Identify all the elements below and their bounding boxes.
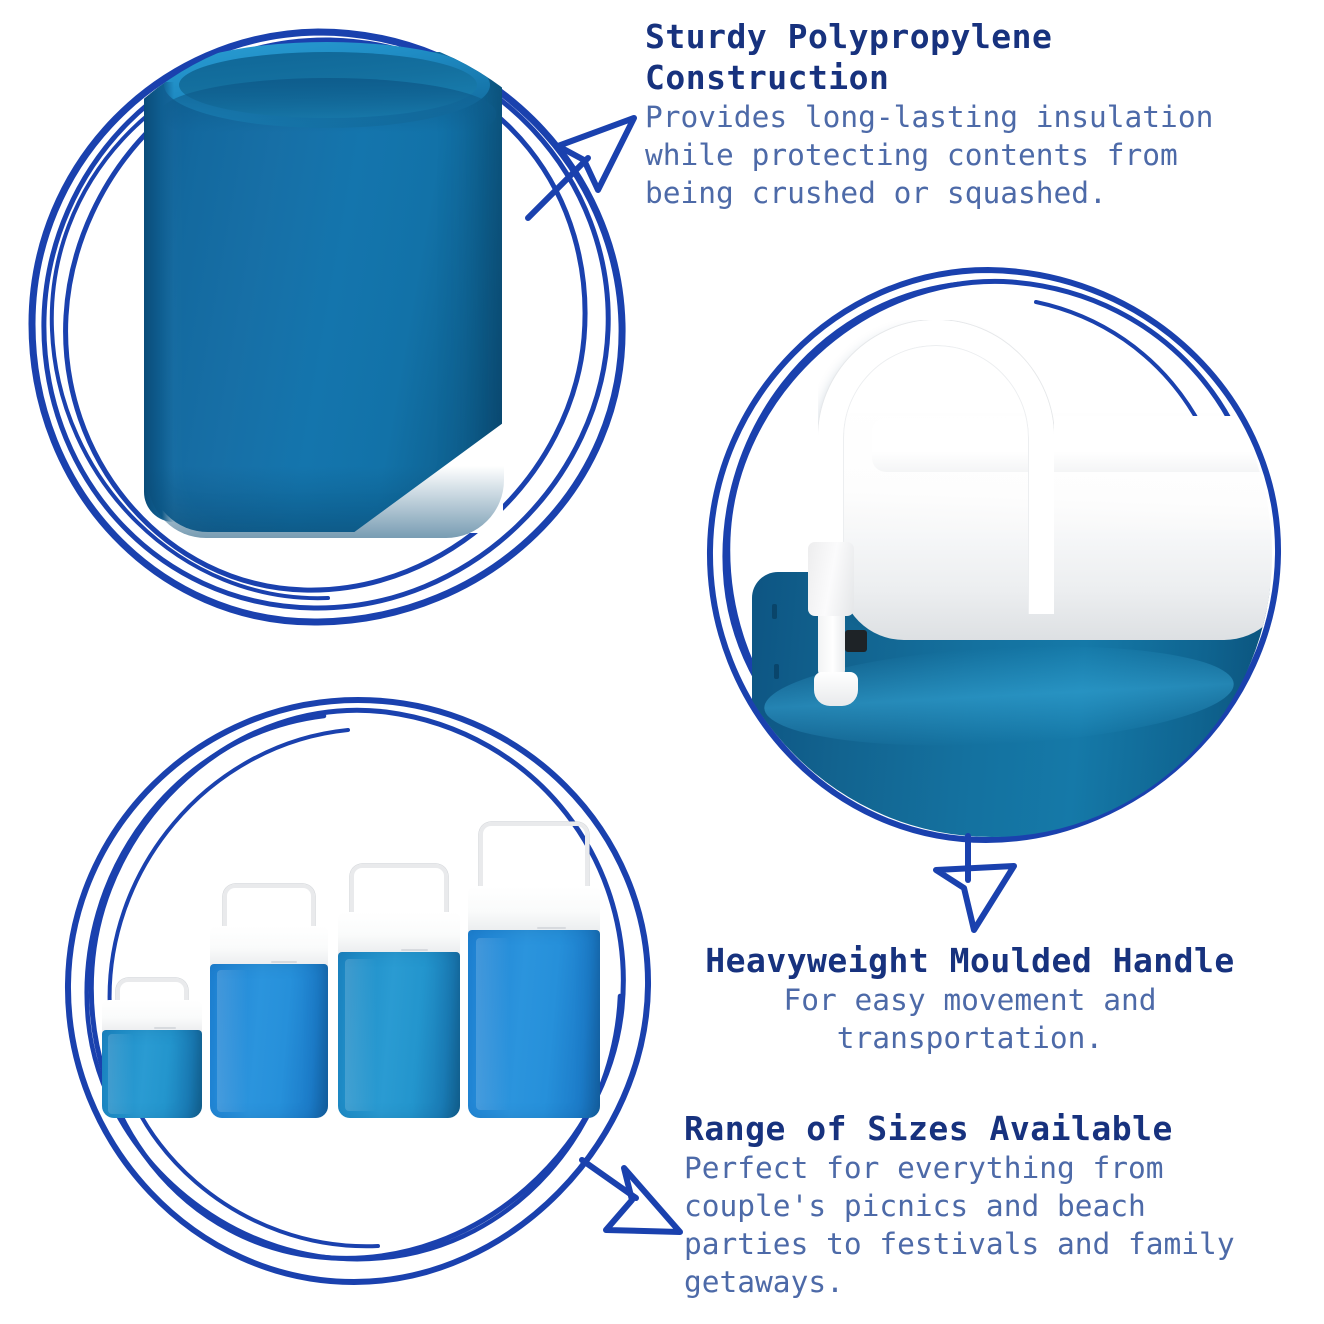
cooler-handle-closeup-image xyxy=(712,272,1272,837)
cooler-lid xyxy=(338,912,460,956)
cooler-lid xyxy=(102,1000,202,1034)
cooler-body xyxy=(210,964,328,1118)
cooler-lid xyxy=(468,886,600,934)
handle-hinge xyxy=(808,542,854,616)
infographic-canvas: Sturdy Polypropylene Construction Provid… xyxy=(0,0,1324,1324)
cooler-handle-bar xyxy=(479,822,589,890)
feature-text-block-2: Heavyweight Moulded Handle For easy move… xyxy=(660,940,1280,1057)
cooler-handle-bar xyxy=(350,864,448,916)
feature-1-body: Provides long-lasting insulation while p… xyxy=(645,98,1305,212)
list-item xyxy=(468,886,600,1118)
feature-text-block-1: Sturdy Polypropylene Construction Provid… xyxy=(645,16,1305,212)
cooler-body xyxy=(338,952,460,1118)
feature-2-body: For easy movement and transportation. xyxy=(660,981,1280,1057)
arrow-down-icon xyxy=(930,836,1034,936)
feature-text-block-3: Range of Sizes Available Perfect for eve… xyxy=(684,1108,1304,1301)
feature-1-title: Sturdy Polypropylene Construction xyxy=(645,16,1305,98)
cooler-base-notch xyxy=(774,664,779,679)
cooler-bottom-shadow xyxy=(148,466,504,538)
cooler-rim-shadow xyxy=(160,78,496,148)
feature-2-title: Heavyweight Moulded Handle xyxy=(660,940,1280,981)
feature-3-title: Range of Sizes Available xyxy=(684,1108,1304,1149)
cooler-base-notch xyxy=(772,604,777,619)
cooler-size-range-image xyxy=(70,700,650,1280)
feature-3-body: Perfect for everything from couple's pic… xyxy=(684,1149,1304,1301)
list-item xyxy=(210,926,328,1118)
cooler-moulded-handle xyxy=(818,320,1054,660)
arrow-right-down-icon xyxy=(580,1154,700,1264)
handle-tip xyxy=(814,672,858,706)
cooler-left-edge-shadow xyxy=(144,82,174,522)
list-item xyxy=(338,912,460,1118)
list-item xyxy=(102,1000,202,1118)
arrow-right-up-icon xyxy=(524,112,644,222)
cooler-body xyxy=(468,930,600,1118)
handle-gap-shadow xyxy=(845,630,867,652)
cooler-lid xyxy=(210,926,328,968)
cooler-body xyxy=(102,1030,202,1118)
cooler-handle-bar xyxy=(223,884,315,930)
